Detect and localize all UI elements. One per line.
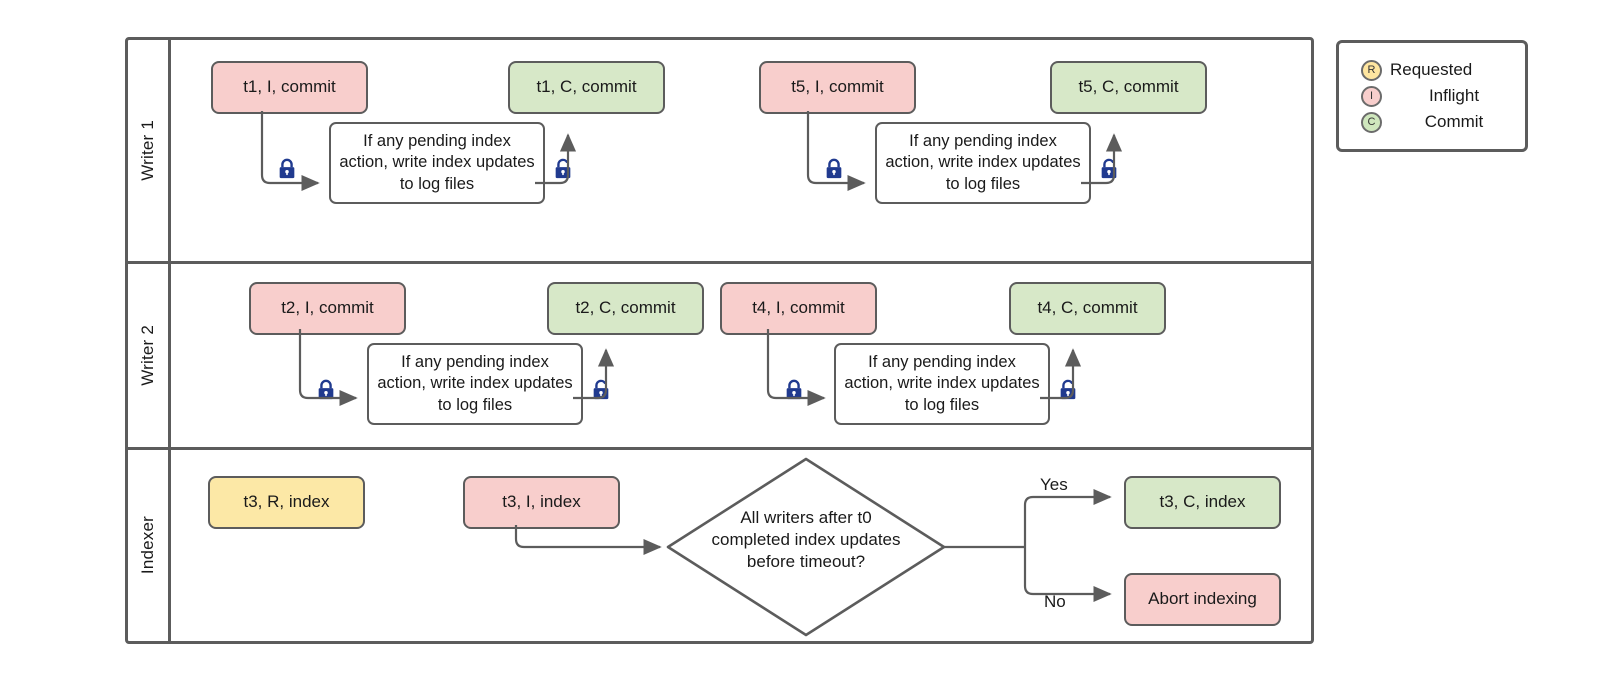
node-abort-indexing[interactable]: Abort indexing [1124,573,1281,626]
legend-label-inflight: Inflight [1388,86,1520,106]
node-t3-requested-index[interactable]: t3, R, index [208,476,365,529]
swimlane-writer-2: Writer 2 t2, I, commit If any pending in… [128,261,1311,447]
lock-closed-icon [315,379,337,401]
node-t2-inflight-commit[interactable]: t2, I, commit [249,282,406,335]
node-t1-commit-commit[interactable]: t1, C, commit [508,61,665,114]
decision-line-2: completed index updates [691,529,921,551]
legend-box: R Requested I Inflight C Commit [1336,40,1528,152]
legend-badge-requested-icon: R [1361,60,1382,81]
lock-open-icon [590,379,612,401]
node-t5-inflight-commit[interactable]: t5, I, commit [759,61,916,114]
lock-closed-icon [823,158,845,180]
swimlane-label-indexer: Indexer [128,450,171,641]
swimlane-label-text: Writer 1 [138,120,158,181]
legend-label-requested: Requested [1390,60,1472,80]
note-writer1-index-updates-1[interactable]: If any pending index action, write index… [329,122,545,204]
decision-line-3: before timeout? [691,551,921,573]
legend-item-commit: C Commit [1361,109,1525,135]
diagram-canvas: Writer 1 t1, I, commit If any pending in… [0,0,1609,700]
lock-closed-icon [783,379,805,401]
legend-badge-inflight-icon: I [1361,86,1382,107]
swimlane-body-writer-1: t1, I, commit If any pending index actio… [171,40,1311,261]
swimlane-label-writer-2: Writer 2 [128,264,171,447]
node-t1-inflight-commit[interactable]: t1, I, commit [211,61,368,114]
node-t3-inflight-index[interactable]: t3, I, index [463,476,620,529]
swimlane-label-text: Writer 2 [138,325,158,386]
node-t4-inflight-commit[interactable]: t4, I, commit [720,282,877,335]
swimlane-label-text: Indexer [138,516,158,574]
decision-diamond-label: All writers after t0 completed index upd… [691,507,921,572]
legend-item-requested: R Requested [1361,57,1525,83]
note-writer2-index-updates-1[interactable]: If any pending index action, write index… [367,343,583,425]
node-t4-commit-commit[interactable]: t4, C, commit [1009,282,1166,335]
lock-open-icon [552,158,574,180]
lock-closed-icon [276,158,298,180]
swimlane-body-writer-2: t2, I, commit If any pending index actio… [171,264,1311,447]
legend-item-inflight: I Inflight [1361,83,1525,109]
lock-open-icon [1057,379,1079,401]
swimlane-label-writer-1: Writer 1 [128,40,171,261]
legend-badge-commit-icon: C [1361,112,1382,133]
legend-label-commit: Commit [1388,112,1520,132]
node-t2-commit-commit[interactable]: t2, C, commit [547,282,704,335]
note-writer2-index-updates-2[interactable]: If any pending index action, write index… [834,343,1050,425]
node-t3-commit-index[interactable]: t3, C, index [1124,476,1281,529]
swimlane-writer-1: Writer 1 t1, I, commit If any pending in… [128,40,1311,261]
note-writer1-index-updates-2[interactable]: If any pending index action, write index… [875,122,1091,204]
edge-label-no: No [1044,592,1066,612]
lock-open-icon [1098,158,1120,180]
edge-label-yes: Yes [1040,475,1068,495]
decision-line-1: All writers after t0 [691,507,921,529]
node-t5-commit-commit[interactable]: t5, C, commit [1050,61,1207,114]
